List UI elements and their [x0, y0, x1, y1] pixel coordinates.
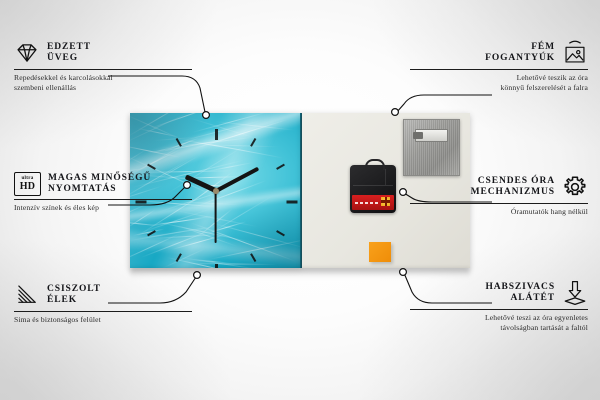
callout-rule: [14, 311, 192, 312]
clock-tick: [176, 253, 182, 262]
minute-hand: [215, 166, 259, 192]
clock-tick: [147, 163, 156, 169]
callout-habszivacs-alatet: HABSZIVACS ALÁTÉT Lehetővé teszi az óra …: [410, 280, 588, 332]
clock-tick: [250, 138, 256, 147]
callout-subtitle-line1: Sima és biztonságos felület: [14, 315, 192, 325]
clock-tick: [215, 129, 218, 140]
ultra-hd-badge-icon: ultra HD: [14, 172, 41, 196]
callout-subtitle-line2: szembeni ellenállás: [14, 83, 192, 93]
gear-icon: [562, 174, 588, 200]
callout-rule: [410, 309, 588, 310]
callout-magas-minosegu-nyomtatas: ultra HD MAGAS MINŐSÉGŰ NYOMTATÁS Intenz…: [14, 172, 192, 213]
foam-spacer-pad: [369, 242, 391, 262]
clock-tick: [250, 253, 256, 262]
clock-tick: [286, 200, 297, 203]
hand-center-cap: [213, 188, 219, 194]
callout-subtitle-line1: Óramutatók hang nélkül: [410, 207, 588, 217]
diamond-icon: [14, 40, 40, 66]
callout-title-line2: ÜVEG: [47, 53, 91, 65]
callout-subtitle-line1: Repedésekkel és karcolásokkal: [14, 73, 192, 83]
second-hand: [215, 191, 217, 243]
clock-tick: [147, 230, 156, 236]
callout-rule: [14, 199, 192, 200]
picture-hanger-icon: [562, 40, 588, 66]
callout-title-line2: FOGANTYÚK: [485, 53, 555, 65]
callout-title-line1: EDZETT: [47, 42, 91, 54]
callout-title-line1: CSISZOLT: [47, 284, 101, 296]
callout-subtitle-line2: távolságban tartását a faltól: [410, 323, 588, 333]
callout-rule: [410, 203, 588, 204]
callout-subtitle-line1: Intenzív színek és éles kép: [14, 203, 192, 213]
callout-rule: [14, 69, 192, 70]
callout-subtitle-line1: Lehetővé teszik az óra: [410, 73, 588, 83]
callout-title-line1: FÉM: [485, 42, 555, 54]
foam-pad-arrow-icon: [562, 280, 588, 306]
callout-title-line2: ALÁTÉT: [485, 293, 555, 305]
callout-edzett-uveg: EDZETT ÜVEG Repedésekkel és karcolásokka…: [14, 40, 192, 92]
callout-title-line1: MAGAS MINŐSÉGŰ: [48, 173, 151, 185]
ultra-hd-bottom-text: HD: [20, 182, 35, 192]
callout-subtitle-line2: könnyű felszerelését a falra: [410, 83, 588, 93]
product-shadow: [130, 268, 470, 278]
beveled-edge-icon: [14, 282, 40, 308]
callout-fem-fogantyuk: FÉM FOGANTYÚK Lehetővé teszik az óra kön…: [410, 40, 588, 92]
callout-csendes-ora-mechanizmus: CSENDES ÓRA MECHANIZMUS Óramutatók hang …: [410, 174, 588, 217]
callout-title-line1: HABSZIVACS: [485, 282, 555, 294]
clock-tick: [276, 230, 285, 236]
callout-csiszolt-elek: CSISZOLT ÉLEK Sima és biztonságos felüle…: [14, 282, 192, 325]
callout-title-line2: MECHANIZMUS: [471, 187, 555, 199]
metal-hanger-plate-icon: [403, 119, 460, 176]
callout-title-line1: CSENDES ÓRA: [471, 176, 555, 188]
callout-subtitle-line1: Lehetővé teszi az óra egyenletes: [410, 313, 588, 323]
callout-title-line2: ÉLEK: [47, 295, 101, 307]
callout-rule: [410, 69, 588, 70]
clock-tick: [276, 163, 285, 169]
quartz-clock-mechanism: [350, 165, 396, 213]
callout-title-line2: NYOMTATÁS: [48, 184, 151, 196]
clock-tick: [176, 138, 182, 147]
infographic-canvas: EDZETT ÜVEG Repedésekkel és karcolásokka…: [0, 0, 600, 400]
